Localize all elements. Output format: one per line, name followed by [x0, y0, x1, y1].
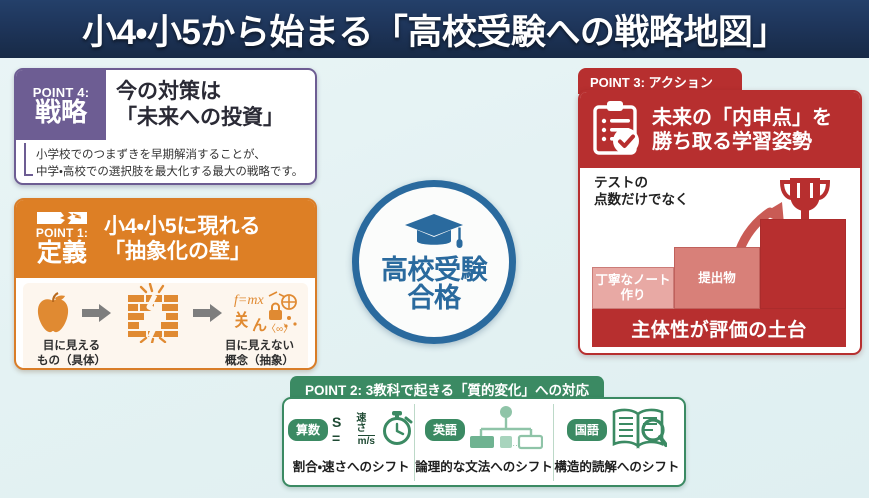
caption-abstract-line2: 概念（抽象）	[225, 354, 294, 368]
bar-submissions-label: 提出物	[698, 271, 736, 286]
subject-japanese-caption: 構造的読解へのシフト	[554, 456, 679, 475]
formula-denominator: m/s	[358, 435, 375, 447]
bar-goal	[760, 219, 846, 309]
infographic-canvas: 小4・小5から始まる「高校受験への戦略地図」 POINT 4: 戦略 今の対策は…	[0, 0, 869, 498]
speed-formula: S = 速さ m/s	[332, 414, 376, 447]
arrow-right-icon	[82, 303, 112, 328]
caption-concrete-line1: 目に見える	[37, 339, 106, 353]
point3-header: 未来の「内申点」を 勝ち取る学習姿勢	[580, 92, 860, 168]
bar-note-taking-text: 丁寧なノート作り	[593, 273, 673, 303]
point1-title-line2: 「抽象化の壁」	[104, 239, 307, 264]
arrow-right-icon-2	[193, 303, 223, 328]
point1-title: 小4・小5に現れる 「抽象化の壁」	[99, 214, 307, 264]
chart-annotation: テストの 点数だけでなく	[594, 174, 689, 208]
caption-concrete: 目に見える もの（具体）	[37, 339, 106, 368]
graduation-cap-icon	[403, 212, 465, 255]
subject-math-pill: 算数	[288, 419, 328, 441]
point4-keyword: 戦略	[35, 99, 87, 126]
caption-concrete-line2: もの（具体）	[37, 354, 106, 368]
tree-diagram-icon: …	[469, 405, 543, 456]
point3-title-line1: 未来の「内申点」を	[652, 106, 832, 130]
center-goal-text: 高校受験 合格	[381, 256, 487, 313]
chart-base-label: 主体性が評価の土台	[592, 309, 846, 347]
svg-text:f=mx: f=mx	[234, 293, 264, 308]
svg-text:ん: ん	[252, 317, 267, 334]
broken-wall-icon	[37, 211, 87, 225]
center-goal-badge: 高校受験 合格	[352, 180, 516, 344]
stopwatch-icon	[380, 410, 414, 451]
cracked-brick-wall-icon	[122, 283, 184, 348]
book-magnifier-icon	[611, 405, 667, 456]
abstract-symbols-icon: f=mx 关 ん 〈∞〉	[233, 288, 299, 343]
subject-english-pill: 英語	[425, 419, 465, 441]
abstraction-flow: f=mx 关 ん 〈∞〉	[23, 289, 308, 341]
page-title: 小4・小5から始まる「高校受験への戦略地図」	[82, 4, 787, 55]
point1-card: POINT 1: 定義 小4・小5に現れる 「抽象化の壁」	[14, 198, 317, 370]
bracket-icon	[24, 143, 33, 176]
point1-diagram: f=mx 关 ん 〈∞〉 目に見える もの（	[23, 283, 308, 370]
center-goal-line1: 高校受験	[381, 256, 487, 284]
subject-math: 算数 S = 速さ m/s	[288, 404, 414, 481]
apple-icon	[33, 291, 73, 340]
point3-card: POINT 3: アクション	[578, 68, 862, 355]
point4-note-line1: 小学校でのつまずきを早期解消することが、	[36, 147, 309, 164]
caption-abstract: 目に見えない 概念（抽象）	[225, 339, 294, 368]
point3-tab-label: POINT 3: アクション	[590, 72, 713, 91]
svg-text:〈∞〉: 〈∞〉	[266, 323, 293, 335]
point4-card: POINT 4: 戦略 今の対策は 「未来への投資」 小学校でのつまずきを早期解…	[14, 68, 317, 185]
caption-abstract-line1: 目に見えない	[225, 339, 294, 353]
bar-note-taking: 丁寧なノート作り	[592, 267, 674, 309]
formula-fraction: 速さ m/s	[356, 414, 376, 447]
subject-math-visual: 算数 S = 速さ m/s	[288, 404, 414, 456]
formula-variable: S =	[332, 414, 353, 446]
subject-japanese-pill: 国語	[567, 419, 607, 441]
point2-card: POINT 2: 3教科で起きる「質的変化」への対応 算数 S = 速さ m/s	[282, 376, 686, 491]
subject-math-caption: 割合・速さへのシフト	[293, 456, 410, 475]
point4-title-line1: 今の対策は	[116, 79, 309, 105]
svg-text:关: 关	[233, 310, 250, 330]
point4-title-line2: 「未来への投資」	[116, 105, 309, 131]
point4-label-block: POINT 4: 戦略	[16, 70, 106, 140]
subject-english-visual: 英語 …	[415, 404, 553, 456]
bar-note-taking-label: 丁寧なノート作り	[593, 273, 673, 303]
subject-japanese: 国語	[553, 404, 680, 481]
chart-annotation-line2: 点数だけでなく	[594, 191, 689, 208]
point1-label-block: POINT 1: 定義	[25, 211, 99, 266]
point1-keyword: 定義	[37, 240, 87, 266]
point3-title-line2: 勝ち取る学習姿勢	[652, 130, 832, 154]
point3-chart: テストの 点数だけでなく	[580, 168, 860, 353]
subject-english-caption: 論理的な文法へのシフト	[415, 456, 553, 475]
clipboard-check-icon	[590, 99, 644, 162]
chart-annotation-line1: テストの	[594, 174, 689, 191]
point4-note: 小学校でのつまずきを早期解消することが、 中学・高校での選択肢を最大化する最大の…	[16, 140, 315, 185]
center-goal-line2: 合格	[408, 284, 461, 312]
point1-header: POINT 1: 定義 小4・小5に現れる 「抽象化の壁」	[16, 200, 315, 278]
formula-numerator: 速さ	[356, 414, 376, 434]
point4-note-line2: 中学・高校での選択肢を最大化する最大の戦略です。	[36, 164, 309, 181]
svg-text:…: …	[512, 438, 521, 448]
chart-base-text: 主体性が評価の土台	[631, 315, 807, 342]
subject-english: 英語 …	[414, 404, 553, 481]
point1-title-line1: 小4・小5に現れる	[104, 214, 307, 239]
subject-japanese-visual: 国語	[554, 404, 680, 456]
point3-title: 未来の「内申点」を 勝ち取る学習姿勢	[652, 106, 832, 155]
point3-box: 未来の「内申点」を 勝ち取る学習姿勢 テストの 点数だけでなく	[578, 90, 862, 355]
point2-box: 算数 S = 速さ m/s	[282, 397, 686, 487]
point4-title: 今の対策は 「未来への投資」	[106, 70, 315, 140]
bar-submissions: 提出物	[674, 247, 760, 309]
point2-tab-label: POINT 2: 3教科で起きる「質的変化」への対応	[305, 379, 589, 399]
point4-header: POINT 4: 戦略 今の対策は 「未来への投資」	[16, 70, 315, 140]
header-bar: 小4・小5から始まる「高校受験への戦略地図」	[0, 0, 869, 58]
point1-diagram-captions: 目に見える もの（具体） 目に見えない 概念（抽象）	[23, 339, 308, 368]
